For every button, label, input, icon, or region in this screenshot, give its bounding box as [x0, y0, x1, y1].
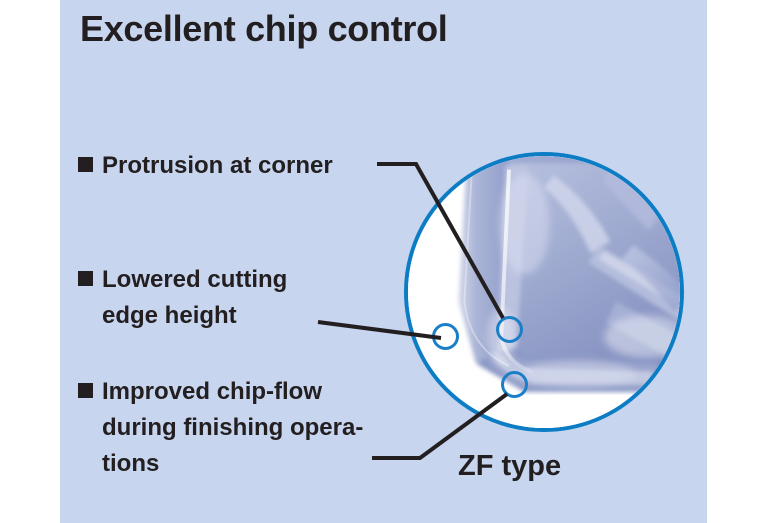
feature-item-lowered-edge: Lowered cutting edge height [78, 262, 287, 334]
callout-circle-protrusion [496, 316, 523, 343]
feature-line: tions [78, 446, 363, 482]
feature-line: during finishing opera- [78, 410, 363, 446]
callout-circle-lowered-edge [432, 323, 459, 350]
feature-line: Improved chip-flow [102, 378, 322, 405]
bullet-square-icon [78, 383, 93, 398]
feature-item-protrusion: Protrusion at corner [78, 148, 333, 184]
feature-line: edge height [78, 298, 287, 334]
feature-line: Protrusion at corner [102, 152, 333, 179]
page-title: Excellent chip control [80, 8, 447, 50]
feature-item-chip-flow: Improved chip-flow during finishing oper… [78, 374, 363, 482]
insert-photo-circle [404, 152, 684, 432]
insert-photo-image [408, 156, 680, 428]
callout-circle-chip-flow [501, 371, 528, 398]
figure-root: Excellent chip control Protrusion at cor… [0, 0, 767, 523]
bullet-square-icon [78, 271, 93, 286]
bullet-square-icon [78, 157, 93, 172]
figure-caption: ZF type [458, 450, 561, 483]
feature-line: Lowered cutting [102, 266, 287, 293]
